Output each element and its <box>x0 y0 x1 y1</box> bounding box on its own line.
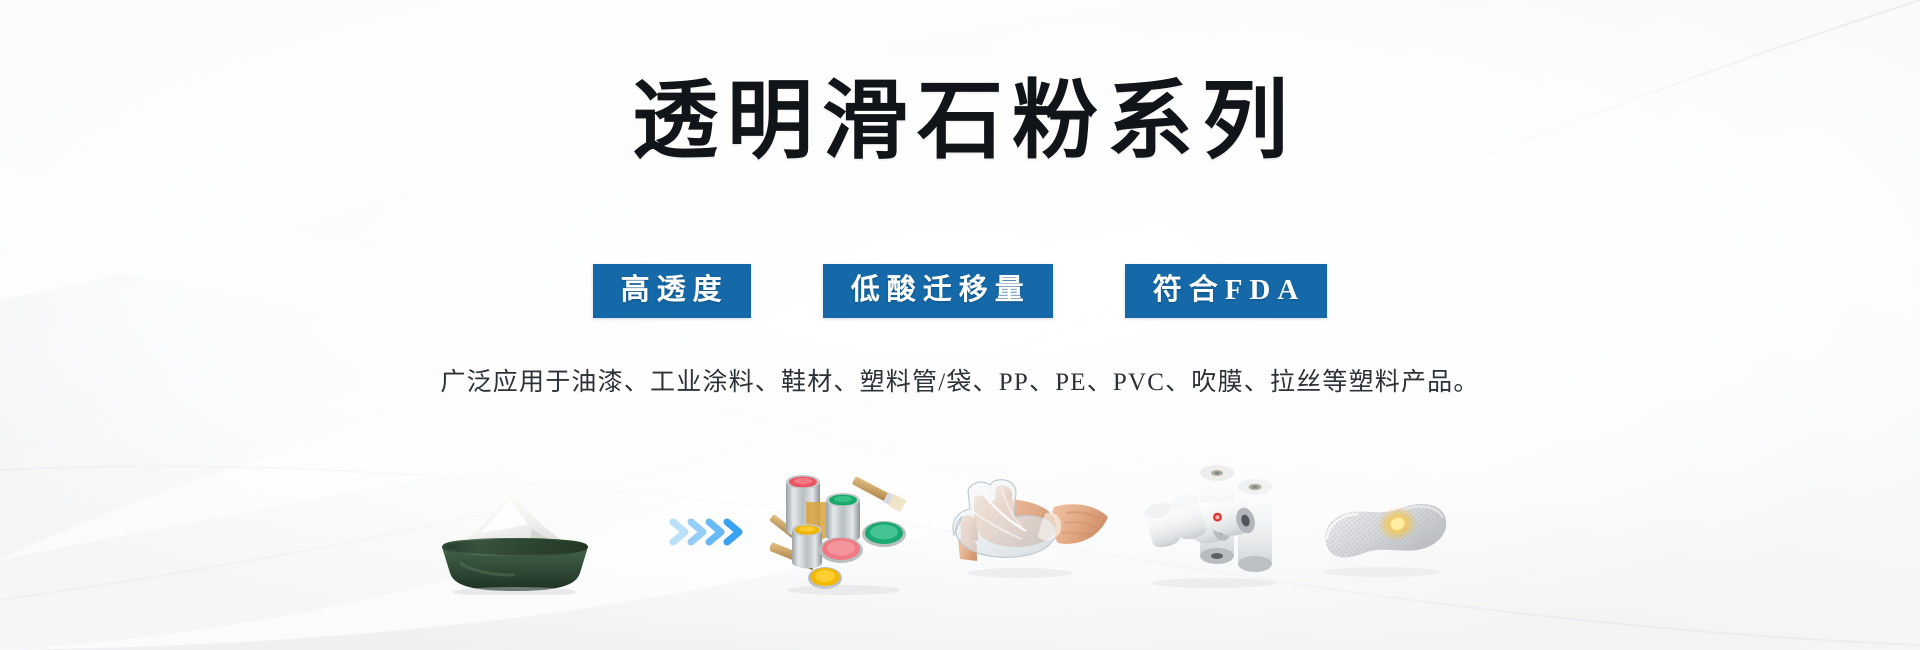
talc-powder-bowl-image <box>420 475 610 595</box>
plastic-film-rolls-image <box>1138 461 1288 591</box>
badge-low-acid-migration[interactable]: 低酸迁移量 <box>823 264 1053 318</box>
plastic-glove-image <box>950 473 1110 583</box>
feature-badge-row: 高透度 低酸迁移量 符合FDA <box>593 264 1328 318</box>
page-title: 透明滑石粉系列 <box>623 78 1297 164</box>
application-description: 广泛应用于油漆、工业涂料、鞋材、塑料管/袋、PP、PE、PVC、吹膜、拉丝等塑料… <box>440 362 1479 398</box>
paint-cans-image <box>770 462 920 597</box>
badge-high-transparency[interactable]: 高透度 <box>593 264 751 318</box>
product-banner: 透明滑石粉系列 高透度 低酸迁移量 符合FDA 广泛应用于油漆、工业涂料、鞋材、… <box>0 0 1920 650</box>
shoe-sole-image <box>1306 476 1456 581</box>
badge-fda-compliant[interactable]: 符合FDA <box>1125 264 1328 318</box>
product-image-strip <box>420 447 1500 597</box>
process-arrows-icon <box>668 515 752 549</box>
banner-content: 透明滑石粉系列 高透度 低酸迁移量 符合FDA 广泛应用于油漆、工业涂料、鞋材、… <box>0 0 1920 650</box>
